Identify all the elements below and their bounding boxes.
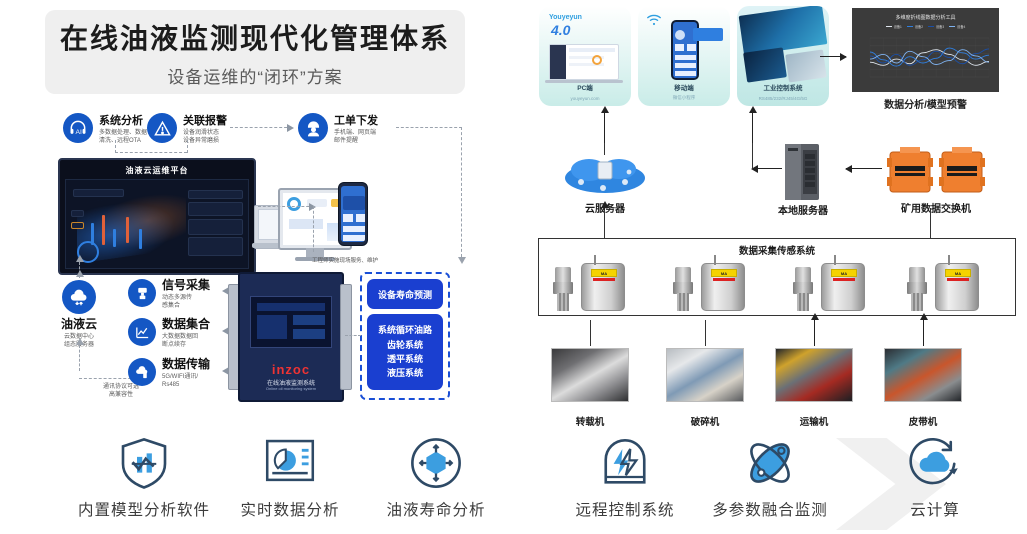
platform-screen-body [65, 179, 249, 269]
cloud-upload-icon [128, 358, 156, 386]
node-sub-2: Rs485 [162, 381, 210, 389]
machine-photo-reloader [551, 348, 629, 402]
engineer-service-note: 工程师实施现场服务、维护 [312, 256, 378, 264]
legend-item: 设备4 [949, 24, 965, 29]
connector-monitor-to-devices [258, 206, 314, 207]
chart-panel-caption: 数据分析/模型预警 [852, 96, 999, 111]
riser-belt [923, 320, 924, 346]
node-title: 油液云 [48, 318, 110, 331]
data-analysis-chart-panel: 多维度折线图数据分析工具 设备1 设备2 设备3 设备4 [852, 8, 999, 92]
pie-report-icon [210, 432, 370, 494]
connector-analysis-up [115, 140, 116, 153]
chart-svg [866, 36, 991, 82]
machine-photo-belt [884, 348, 962, 402]
local-server-label: 本地服务器 [770, 202, 836, 217]
ai-headset-icon: AI [63, 113, 93, 143]
node-sub-2: 断点续存 [162, 341, 210, 349]
node-title: 工单下发 [334, 115, 378, 127]
node-sub-2: 感集合 [162, 302, 210, 310]
oil-sensor-icon [905, 267, 929, 311]
pc-version: 4.0 [551, 22, 570, 38]
node-signal-acquisition: 信号采集 动态多源传 感集合 [162, 279, 210, 310]
cloud-sync-icon [62, 280, 96, 314]
connector-bottom-to-cloud [79, 345, 80, 371]
industrial-sub: RS485/232/RJ45/4G/5G [737, 96, 829, 101]
feature-oil-life-analysis[interactable]: 油液寿命分析 [356, 432, 516, 520]
riser-crusher [705, 320, 706, 346]
oil-monitoring-device: inzoc 在线油液监测系统 Online oil monitoring sys… [238, 272, 344, 402]
transmitter-icon: MA [821, 263, 865, 311]
sensor-pair: MA [787, 261, 883, 313]
feature-label: 多参数融合监测 [690, 498, 850, 520]
svg-text:AI: AI [76, 129, 82, 136]
node-data-transmission: 数据传输 5G/WIFI通讯/ Rs485 [162, 358, 210, 389]
sensor-probe-icon [128, 279, 156, 307]
node-sub-1: 多数据处理、数据 [99, 129, 147, 137]
legend-item: 设备1 [886, 24, 902, 29]
node-sub-2: 邮件提醒 [334, 137, 378, 145]
node-sub-2: 清洗、远程OTA [99, 137, 147, 145]
connector-workorder-down [461, 127, 462, 257]
mining-data-switch-icon [886, 146, 986, 198]
page-subtitle: 设备运维的“闭环”方案 [167, 63, 342, 88]
feature-label: 远程控制系统 [545, 498, 705, 520]
pc-caption: PC端 [539, 82, 631, 92]
riser-reloader [590, 320, 591, 346]
system-list: 系统循环油路 齿轮系统 透平系统 液压系统 [367, 314, 443, 390]
arrow-switch-to-local [846, 168, 882, 169]
machine-photo-conveyor [775, 348, 853, 402]
page-title-card: 在线油液监测现代化管理体系 设备运维的“闭环”方案 [45, 10, 465, 94]
machine-label: 运输机 [775, 414, 853, 428]
chart-legend: 设备1 设备2 设备3 设备4 [852, 24, 999, 29]
pc-sub: youyeyun.com [539, 96, 631, 101]
shield-chart-icon [64, 432, 224, 494]
transmitter-icon: MA [701, 263, 745, 311]
page-title: 在线油液监测现代化管理体系 [60, 17, 450, 57]
node-title: 数据集合 [162, 318, 210, 331]
riser-cloud-to-pc [604, 143, 605, 155]
client-card-mobile: 移动端 微信小程序 [638, 6, 730, 106]
node-data-aggregation: 数据集合 大数据数据回 断点续存 [162, 318, 210, 349]
feature-label: 内置模型分析软件 [64, 498, 224, 520]
ma-certification-tag: MA [591, 269, 617, 277]
chart-plot-area [866, 36, 991, 82]
connector-alarm-to-workorder [230, 127, 292, 128]
device-brand: inzoc [240, 362, 342, 377]
lightning-dome-icon [545, 432, 705, 494]
connector-devices-down [313, 206, 314, 252]
connector-analysis-underline [115, 152, 187, 153]
riser-local-to-industrial [752, 143, 753, 169]
feature-label: 实时数据分析 [210, 498, 370, 520]
data-acquisition-sensing-system: 数据采集传感系统 MA MA MA MA [538, 238, 1016, 316]
sensor-band-title: 数据采集传感系统 [539, 243, 1015, 257]
feature-realtime-data-analysis[interactable]: 实时数据分析 [210, 432, 370, 520]
cloud-server-icon [563, 152, 647, 198]
node-correlated-alarm: 关联报警 设备润滑状态 设备异常磨损 [183, 115, 227, 145]
connector-alarm-down [187, 140, 188, 153]
feature-cloud-computing[interactable]: 云计算 [855, 432, 1015, 520]
node-title: 关联报警 [183, 115, 227, 127]
feature-builtin-model-analysis-software[interactable]: 内置模型分析软件 [64, 432, 224, 520]
connector-cloud-to-monitor [79, 262, 80, 278]
node-sub-2: 设备异常磨损 [183, 137, 227, 145]
system-item: 系统循环油路 [378, 323, 432, 337]
node-sub-1: 手机端、网页端 [334, 129, 378, 137]
warning-triangle-icon [147, 113, 177, 143]
industrial-caption: 工业控制系统 [737, 82, 829, 92]
device-screen [250, 296, 332, 348]
bottom-feature-row: 内置模型分析软件 实时数据分析 [0, 432, 1027, 534]
node-work-order-dispatch: 工单下发 手机端、网页端 邮件提醒 [334, 115, 378, 145]
node-title: 系统分析 [99, 115, 147, 127]
prediction-header: 设备寿命预测 [367, 279, 443, 309]
connector-workorder-right [396, 127, 462, 128]
transmitter-icon: MA [581, 263, 625, 311]
client-card-industrial: 工业控制系统 RS485/232/RJ45/4G/5G [737, 6, 829, 106]
ma-certification-tag: MA [831, 269, 857, 277]
worker-icon [298, 113, 328, 143]
phone-device [338, 182, 368, 246]
connector-device-to-prediction [345, 335, 361, 336]
feature-label: 云计算 [855, 498, 1015, 520]
platform-screen-title: 油液云运维平台 [60, 165, 254, 176]
machine-label: 破碎机 [666, 414, 744, 428]
oil-cloud-platform-monitor: 油液云运维平台 [58, 158, 256, 275]
machine-label: 皮带机 [884, 414, 962, 428]
riser-band-to-switch [930, 208, 931, 238]
machine-photo-crusher [666, 348, 744, 402]
line-chart-icon [128, 318, 156, 346]
oil-sensor-icon [791, 267, 815, 311]
atom-orbit-icon [690, 432, 850, 494]
arrow-to-industrial-card [752, 113, 753, 143]
cloud-refresh-icon [855, 432, 1015, 494]
infographic-canvas: 在线油液监测现代化管理体系 设备运维的“闭环”方案 AI 系统分析 多数据处理、… [0, 0, 1027, 534]
legend-item: 设备2 [907, 24, 923, 29]
feature-multi-parameter-fusion-monitoring[interactable]: 多参数融合监测 [690, 432, 850, 520]
pc-brand: Youyeyun [549, 14, 582, 21]
node-system-analysis: 系统分析 多数据处理、数据 清洗、远程OTA [99, 115, 147, 145]
machine-label: 转载机 [551, 414, 629, 428]
arrow-clients-to-chart [820, 56, 846, 57]
node-sub-1: 设备润滑状态 [183, 129, 227, 137]
mobile-sub: 微信小程序 [638, 95, 730, 101]
arrow-band-to-cloud-head [604, 208, 605, 210]
client-card-pc: Youyeyun 4.0 PC端 youyeyun.com [539, 6, 631, 106]
ma-certification-tag: MA [711, 269, 737, 277]
feature-label: 油液寿命分析 [356, 498, 516, 520]
node-title: 信号采集 [162, 279, 210, 292]
platform-right-widgets [188, 189, 243, 259]
mining-switch-label: 矿用数据交换机 [886, 200, 986, 215]
oil-sensor-icon [671, 267, 695, 311]
system-item: 齿轮系统 [387, 338, 423, 352]
comm-note-line-2: 高兼容性 [88, 391, 154, 399]
mobile-caption: 移动端 [638, 82, 730, 92]
transmitter-icon: MA [935, 263, 979, 311]
oil-sensor-icon [551, 267, 575, 311]
riser-band-to-cloud [604, 208, 605, 238]
node-sub-1: 大数据数据回 [162, 333, 210, 341]
node-sub-1: 动态多源传 [162, 294, 210, 302]
node-title: 数据传输 [162, 358, 210, 371]
sensor-pair: MA [667, 261, 763, 313]
node-sub-1: 5G/WIFI通讯/ [162, 373, 210, 381]
system-item: 透平系统 [387, 352, 423, 366]
ma-certification-tag: MA [945, 269, 971, 277]
sensor-pair: MA [901, 261, 997, 313]
feature-remote-control-system[interactable]: 远程控制系统 [545, 432, 705, 520]
sensor-pair: MA [547, 261, 643, 313]
device-name-en: Online oil monitoring system [240, 386, 342, 391]
legend-item: 设备3 [928, 24, 944, 29]
lifetime-prediction-box: 设备寿命预测 系统循环油路 齿轮系统 透平系统 液压系统 [360, 272, 450, 400]
system-item: 液压系统 [387, 366, 423, 380]
chart-title: 多维度折线图数据分析工具 [852, 14, 999, 21]
local-server-icon [781, 140, 823, 202]
cube-expand-icon [356, 432, 516, 494]
arrow-to-pc-card [604, 113, 605, 143]
riser-conveyor [814, 320, 815, 346]
arrow-local-to-cloud [752, 168, 782, 169]
device-right-bracket [340, 284, 352, 390]
